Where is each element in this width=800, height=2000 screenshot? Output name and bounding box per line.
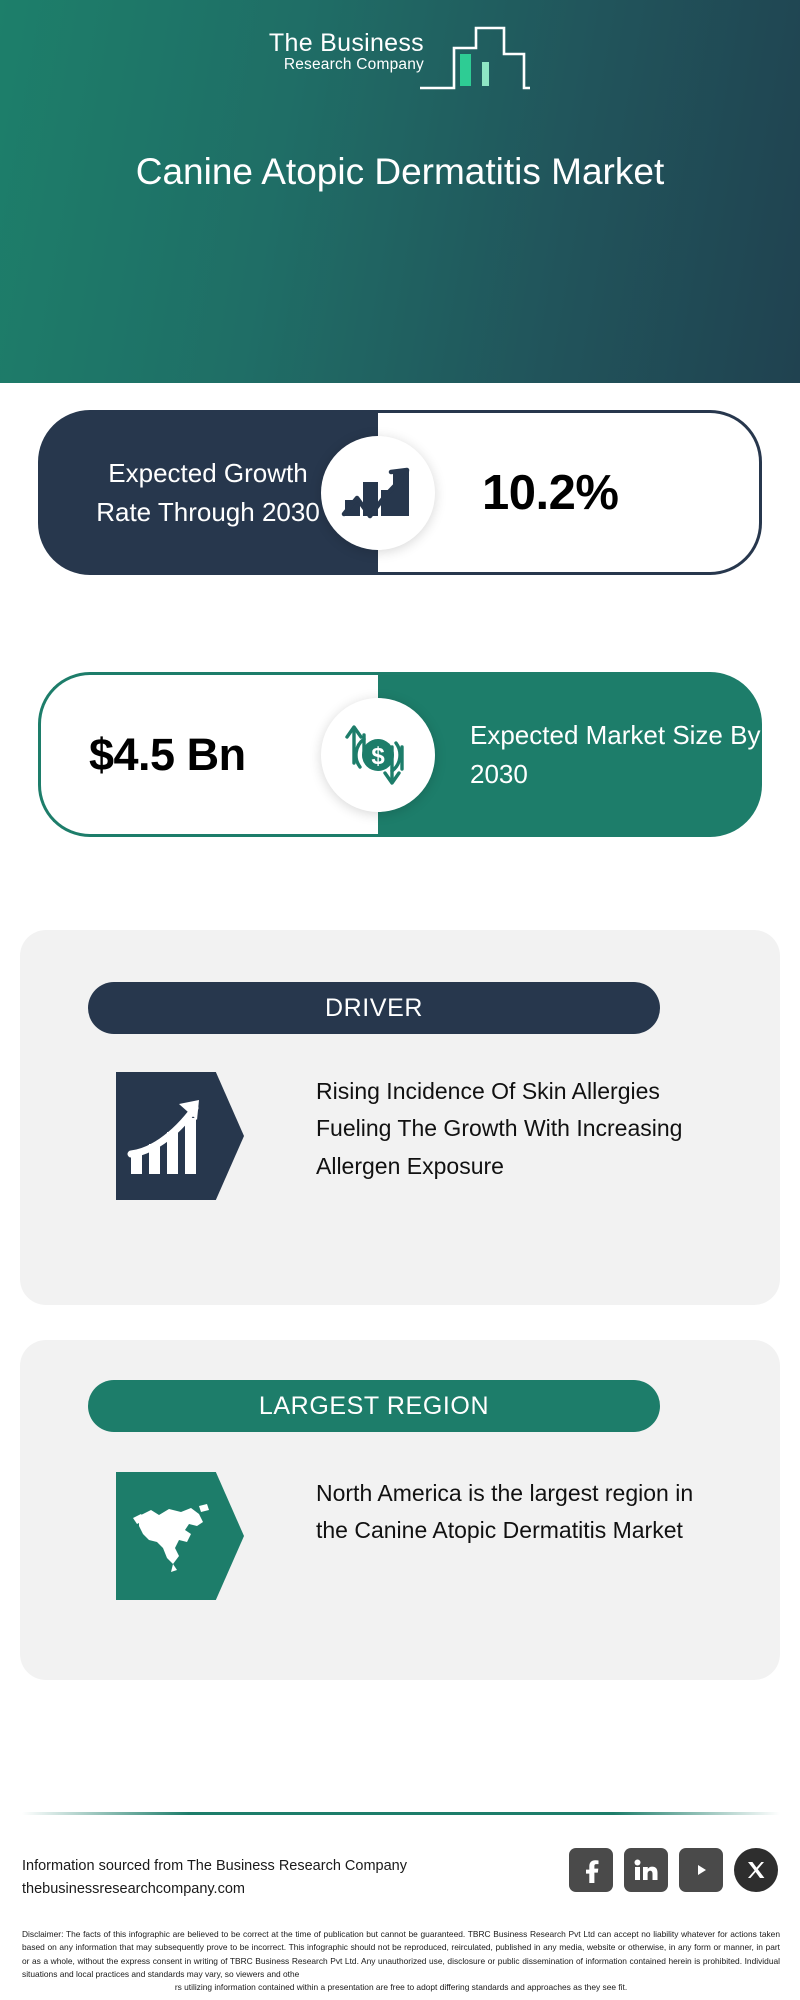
linkedin-icon[interactable] [624, 1848, 668, 1892]
stat-card-label: Expected Market Size By 2030 [470, 716, 762, 793]
largest-region-panel: LARGEST REGION North America is the larg… [20, 1340, 780, 1680]
stat-card-label-panel: Expected Market Size By 2030 [378, 672, 762, 837]
stat-card-value-panel: 10.2% [378, 410, 762, 575]
stat-card-value: $4.5 Bn [89, 729, 246, 781]
dollar-circular-arrows-icon: $ [321, 698, 435, 812]
source-credit: Information sourced from The Business Re… [22, 1855, 452, 1902]
largest-region-badge: LARGEST REGION [88, 1380, 660, 1432]
header-banner: The Business Research Company Canine Ato… [0, 0, 800, 383]
social-links [569, 1848, 778, 1892]
logo-line-1: The Business [224, 30, 424, 56]
source-line-1: Information sourced from The Business Re… [22, 1855, 452, 1878]
youtube-icon[interactable] [679, 1848, 723, 1892]
disclaimer-text: Disclaimer: The facts of this infographi… [22, 1928, 780, 1994]
growth-chart-arrow-icon [321, 436, 435, 550]
rising-bar-chart-arrow-icon [116, 1072, 244, 1200]
driver-badge: DRIVER [88, 982, 660, 1034]
disclaimer-main: Disclaimer: The facts of this infographi… [22, 1929, 780, 1979]
driver-panel: DRIVER Rising Incidence Of Skin Allergie… [20, 930, 780, 1305]
company-logo: The Business Research Company [224, 22, 524, 97]
svg-text:$: $ [371, 743, 385, 770]
bar-chart-logo-mark [420, 22, 530, 94]
footer-divider [22, 1812, 780, 1815]
stat-card-label: Expected Growth Rate Through 2030 [88, 454, 328, 531]
stat-card-market-size: $4.5 Bn Expected Market Size By 2030 $ [38, 672, 762, 837]
driver-text: Rising Incidence Of Skin Allergies Fueli… [316, 1073, 716, 1185]
x-twitter-icon[interactable] [734, 1848, 778, 1892]
stat-card-value: 10.2% [482, 465, 618, 521]
source-website-link[interactable]: thebusinessresearchcompany.com [22, 1878, 452, 1901]
stat-card-growth-rate: Expected Growth Rate Through 2030 10.2% [38, 410, 762, 575]
facebook-icon[interactable] [569, 1848, 613, 1892]
page-title: Canine Atopic Dermatitis Market [60, 148, 740, 197]
largest-region-text: North America is the largest region in t… [316, 1475, 716, 1550]
logo-line-2: Research Company [224, 56, 424, 75]
north-america-map-icon [116, 1472, 244, 1600]
disclaimer-last-line: rs utilizing information contained withi… [22, 1981, 780, 1994]
logo-wordmark: The Business Research Company [224, 30, 424, 75]
